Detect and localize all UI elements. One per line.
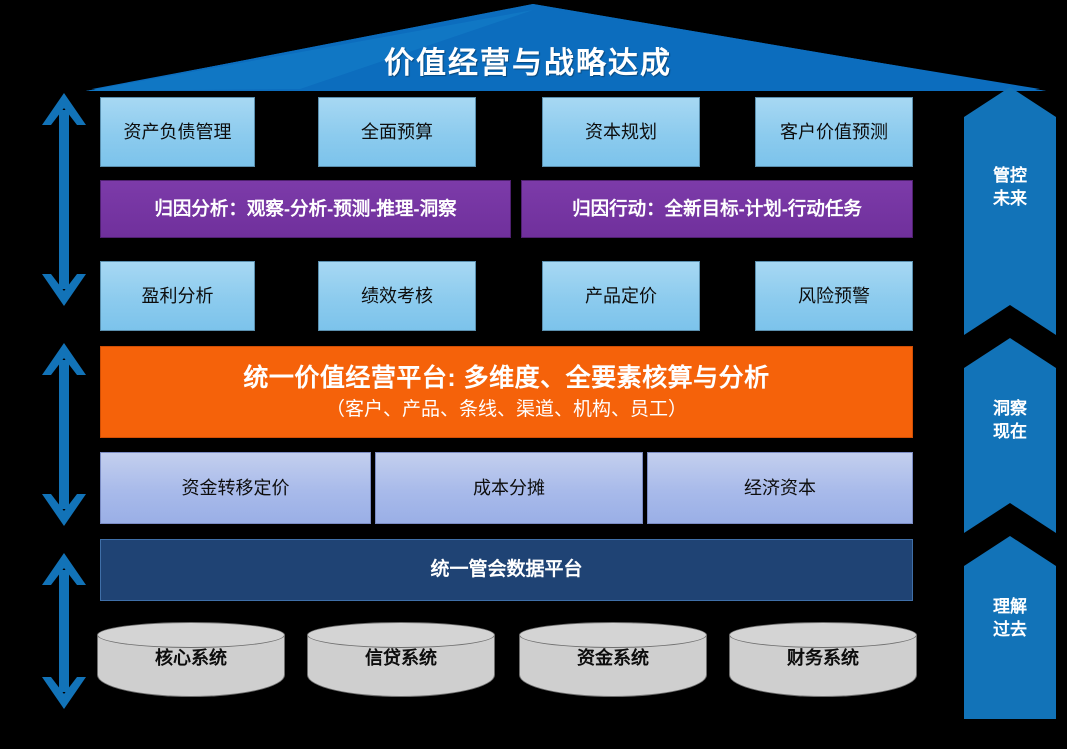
double-arrow-icon — [36, 342, 92, 527]
chevron-understand-past[interactable]: 理解 过去 — [958, 534, 1062, 719]
chevron-label: 管控 未来 — [958, 165, 1062, 211]
chevron-control-future[interactable]: 管控 未来 — [958, 85, 1062, 335]
box-label: 归因分析：观察-分析-预测-推理-洞察 — [154, 197, 456, 220]
box-label: 盈利分析 — [142, 285, 214, 308]
platform-line1: 统一价值经营平台: 多维度、全要素核算与分析 — [243, 363, 769, 394]
left-double-arrow-bottom — [36, 552, 92, 715]
box-unified-value-platform[interactable]: 统一价值经营平台: 多维度、全要素核算与分析 （客户、产品、条线、渠道、机构、员… — [100, 346, 913, 438]
box-label: 经济资本 — [744, 477, 816, 500]
box-attribution-analysis[interactable]: 归因分析：观察-分析-预测-推理-洞察 — [100, 180, 511, 238]
double-arrow-icon — [36, 552, 92, 710]
box-label: 归因行动：全新目标-计划-行动任务 — [572, 197, 862, 220]
box-profitability-analysis[interactable]: 盈利分析 — [100, 261, 255, 331]
box-customer-value-forecast[interactable]: 客户价值预测 — [755, 97, 913, 167]
box-performance-appraisal[interactable]: 绩效考核 — [318, 261, 476, 331]
chevron-label-line1: 洞察 — [993, 399, 1027, 418]
box-label: 统一管会数据平台 — [430, 558, 582, 582]
chevron-label-line2: 现在 — [993, 422, 1027, 441]
box-comprehensive-budget[interactable]: 全面预算 — [318, 97, 476, 167]
roof-banner: 价值经营与战略达成 — [0, 0, 1067, 95]
platform-line2: （客户、产品、条线、渠道、机构、员工） — [326, 398, 687, 422]
diagram-canvas: 价值经营与战略达成 资 — [0, 0, 1067, 749]
chevron-label-line1: 管控 — [993, 166, 1027, 185]
box-attribution-action[interactable]: 归因行动：全新目标-计划-行动任务 — [521, 180, 913, 238]
cylinder-label: 信贷系统 — [307, 644, 495, 670]
box-label: 全面预算 — [361, 121, 433, 144]
box-risk-warning[interactable]: 风险预警 — [755, 261, 913, 331]
box-capital-planning[interactable]: 资本规划 — [542, 97, 700, 167]
cylinder-core-system[interactable]: 核心系统 — [97, 622, 285, 702]
cylinder-treasury-system[interactable]: 资金系统 — [519, 622, 707, 702]
cylinder-label: 核心系统 — [97, 644, 285, 670]
double-arrow-icon — [36, 92, 92, 307]
box-asset-liability-management[interactable]: 资产负债管理 — [100, 97, 255, 167]
box-label: 客户价值预测 — [780, 121, 888, 144]
chevron-label: 理解 过去 — [958, 596, 1062, 642]
box-label: 成本分摊 — [473, 477, 545, 500]
roof-title: 价值经营与战略达成 — [0, 38, 1056, 82]
left-double-arrow-middle — [36, 342, 92, 532]
cylinder-finance-system[interactable]: 财务系统 — [729, 622, 917, 702]
box-label: 资产负债管理 — [124, 121, 232, 144]
left-double-arrow-top — [36, 92, 92, 312]
box-label: 资本规划 — [585, 121, 657, 144]
chevron-label-line2: 未来 — [993, 189, 1027, 208]
chevron-insight-present[interactable]: 洞察 现在 — [958, 336, 1062, 533]
box-product-pricing[interactable]: 产品定价 — [542, 261, 700, 331]
box-label: 资金转移定价 — [182, 477, 290, 500]
cylinder-label: 资金系统 — [519, 644, 707, 670]
box-unified-data-platform[interactable]: 统一管会数据平台 — [100, 539, 913, 601]
box-label: 风险预警 — [798, 285, 870, 308]
chevron-label: 洞察 现在 — [958, 398, 1062, 444]
cylinder-label: 财务系统 — [729, 644, 917, 670]
chevron-label-line1: 理解 — [993, 597, 1027, 616]
box-cost-allocation[interactable]: 成本分摊 — [375, 452, 643, 524]
box-fund-transfer-pricing[interactable]: 资金转移定价 — [100, 452, 371, 524]
box-economic-capital[interactable]: 经济资本 — [647, 452, 913, 524]
box-label: 产品定价 — [585, 285, 657, 308]
cylinder-credit-system[interactable]: 信贷系统 — [307, 622, 495, 702]
box-label: 绩效考核 — [361, 285, 433, 308]
chevron-label-line2: 过去 — [993, 620, 1027, 639]
